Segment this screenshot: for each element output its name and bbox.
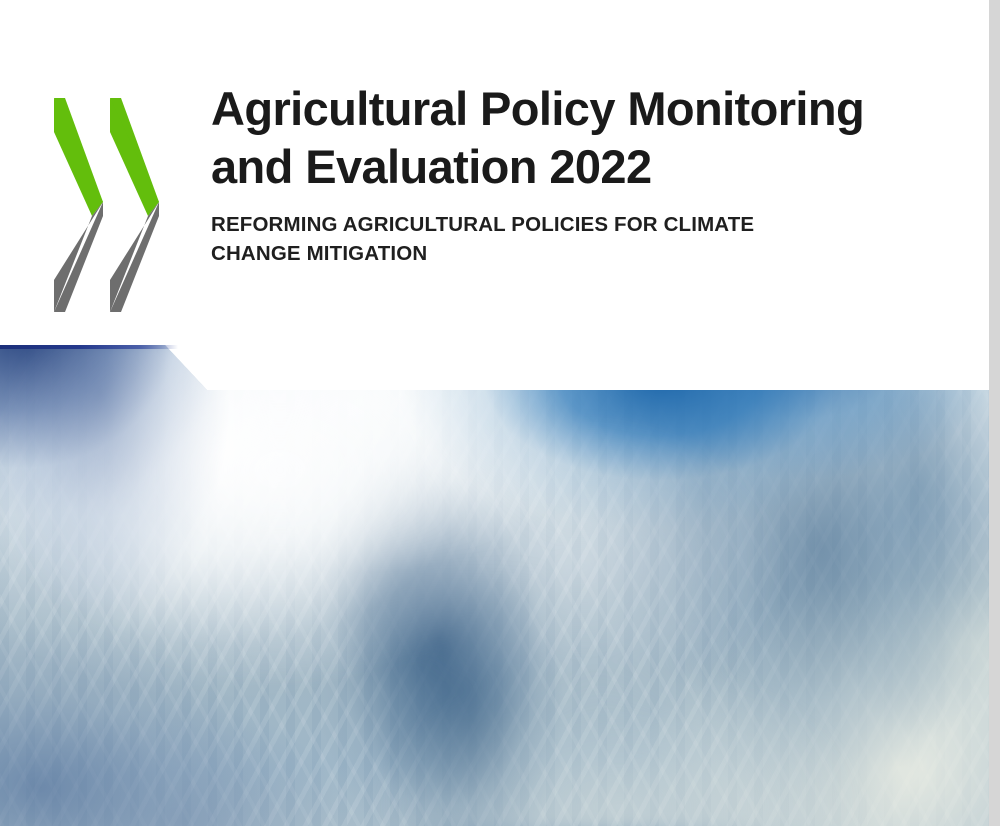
cover-header-band: Agricultural Policy Monitoring and Evalu…: [0, 0, 1000, 345]
chevron-1-grey-fill: [54, 202, 103, 312]
photo-top-navy-rule: [0, 345, 178, 349]
title-block: Agricultural Policy Monitoring and Evalu…: [211, 80, 971, 268]
chevron-2-grey-fill: [110, 202, 159, 312]
chevron-1-green-fill: [54, 98, 103, 216]
right-edge-strip: [989, 0, 1000, 826]
chevron-2-green-fill: [110, 98, 159, 216]
cover-photo: [0, 345, 1000, 826]
page-title: Agricultural Policy Monitoring and Evalu…: [211, 80, 971, 196]
page-subtitle: REFORMING AGRICULTURAL POLICIES FOR CLIM…: [211, 210, 971, 268]
report-cover: Agricultural Policy Monitoring and Evalu…: [0, 0, 1000, 826]
sky-haze-overlay: [0, 345, 1000, 826]
oecd-logo: [46, 94, 172, 316]
